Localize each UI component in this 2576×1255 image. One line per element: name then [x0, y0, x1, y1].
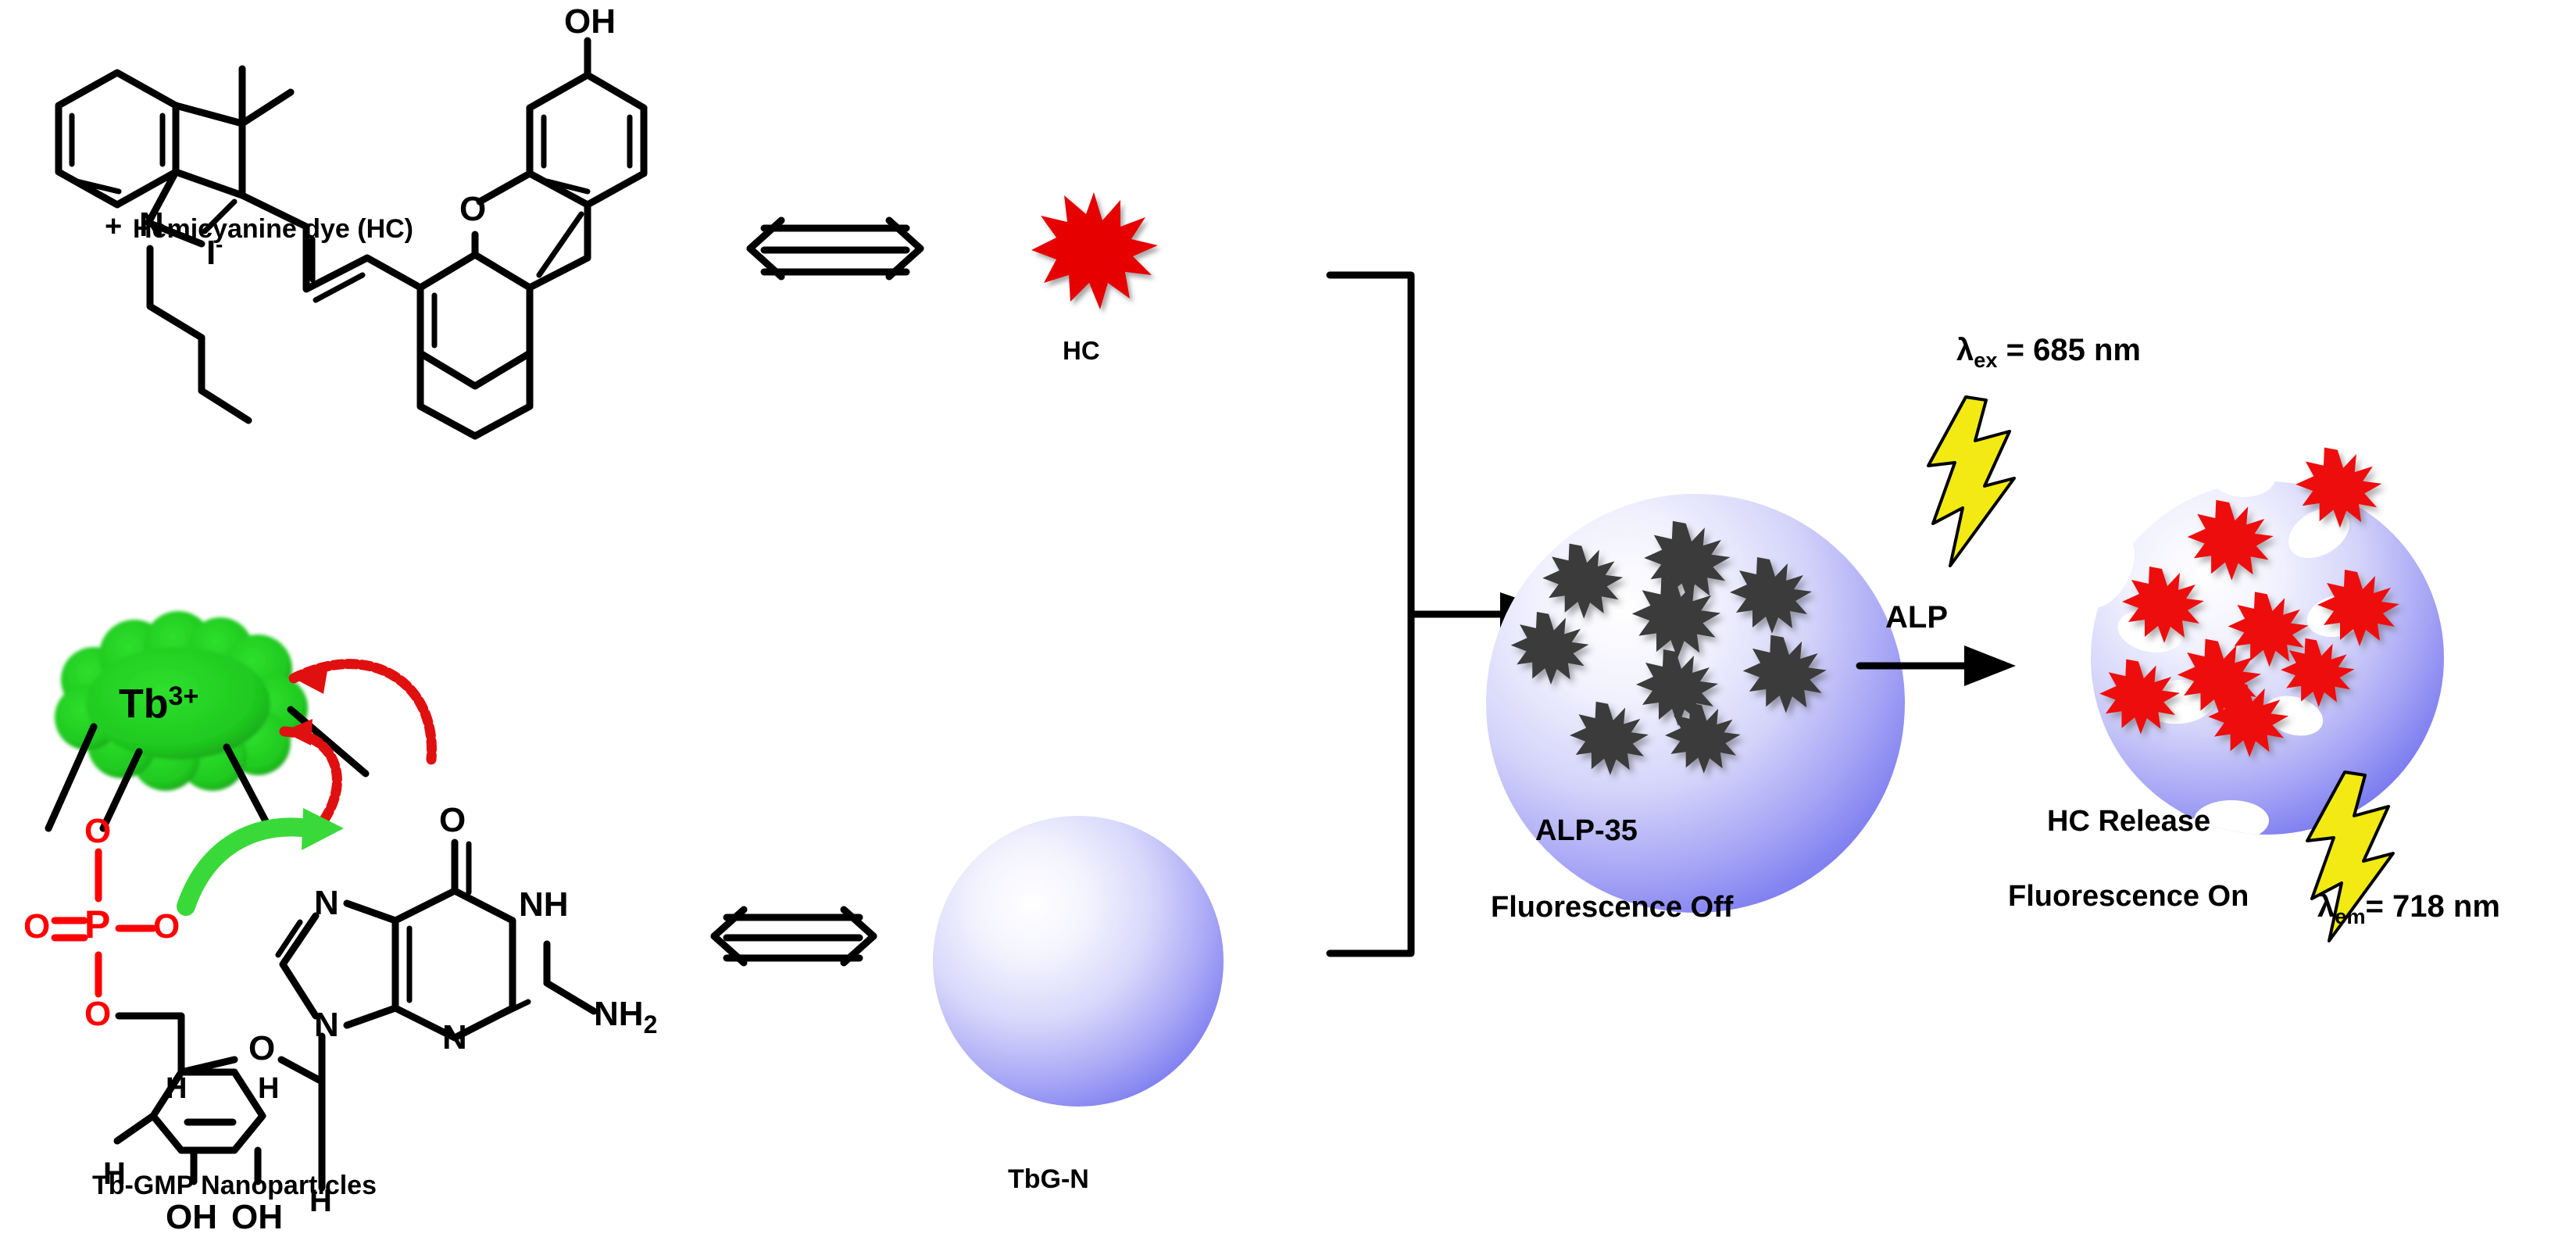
- equilibrium-arrow-top: [750, 203, 945, 297]
- emission-value: 718 nm: [2392, 889, 2500, 924]
- hc-release-label: HC Release: [2047, 805, 2210, 838]
- tbgn-label: TbG-N: [1008, 1164, 1089, 1195]
- atom-oh-left: OH: [166, 1198, 217, 1236]
- atom-o-top: O: [84, 812, 111, 850]
- atom-oxygen-xanthene: O: [459, 190, 486, 228]
- hemicyanine-structure: N + I - O OH: [0, 0, 750, 500]
- atom-o-bottom: O: [84, 995, 111, 1033]
- atom-o-sugar: O: [248, 1029, 275, 1067]
- hc-release-sublabel: Fluorescence On: [2008, 880, 2249, 914]
- equals-sign-ex: =: [2006, 333, 2024, 367]
- alp35-label: ALP-35: [1535, 814, 1638, 848]
- atom-charge-plus: +: [105, 210, 122, 243]
- lambda-ex-subscript: ex: [1974, 348, 1997, 372]
- hemicyanine-label: Hemicyanine dye (HC): [133, 214, 413, 245]
- tb-gmp-label: Tb-GMP Nanoparticles: [92, 1171, 377, 1201]
- alp-arrow-label: ALP: [1885, 600, 1948, 635]
- atom-nh: NH: [519, 885, 569, 924]
- tb-gmp-structure: Tb3+ O O P O O O: [0, 594, 750, 1219]
- tbgn-sphere-icon: [922, 805, 1250, 1133]
- atom-o-carbonyl: O: [439, 801, 466, 839]
- lightning-bolt-excitation: [1914, 391, 2070, 586]
- emission-wavelength-label: λem= 718 nm: [2317, 889, 2500, 929]
- excitation-value: 685 nm: [2033, 333, 2141, 367]
- hc-monomer-label: HC: [1063, 336, 1100, 366]
- atom-oh-right: OH: [231, 1198, 283, 1236]
- excitation-wavelength-label: λex = 685 nm: [1956, 333, 2141, 373]
- lambda-em-subscript: em: [2335, 904, 2365, 928]
- lambda-glyph: λ: [1956, 333, 1974, 367]
- equals-sign-em: =: [2366, 889, 2384, 924]
- atom-o-right: O: [153, 907, 180, 946]
- atom-o-left: O: [23, 907, 50, 946]
- lambda-glyph-em: λ: [2317, 889, 2335, 924]
- hc-red-star-icon: [1024, 180, 1164, 320]
- figure-canvas: N + I - O OH Hemicyanine dye (HC): [0, 0, 2576, 1255]
- equilibrium-arrow-bottom: [703, 875, 899, 977]
- alp35-sublabel: Fluorescence Off: [1491, 891, 1733, 924]
- alp35-sphere: [1477, 492, 1914, 930]
- atom-h-c3: H: [166, 1072, 187, 1105]
- atom-n3: N: [442, 1018, 467, 1057]
- atom-phosphorus: P: [84, 903, 110, 946]
- lightning-bolt-emission: [2293, 766, 2449, 961]
- atom-n9: N: [314, 1006, 339, 1044]
- bracket-icon: [1330, 275, 1411, 953]
- atom-nh2: NH2: [594, 995, 657, 1039]
- green-energy-arrow: [186, 827, 308, 906]
- atom-hydroxyl: OH: [564, 2, 616, 41]
- atom-h-c2: H: [258, 1072, 279, 1105]
